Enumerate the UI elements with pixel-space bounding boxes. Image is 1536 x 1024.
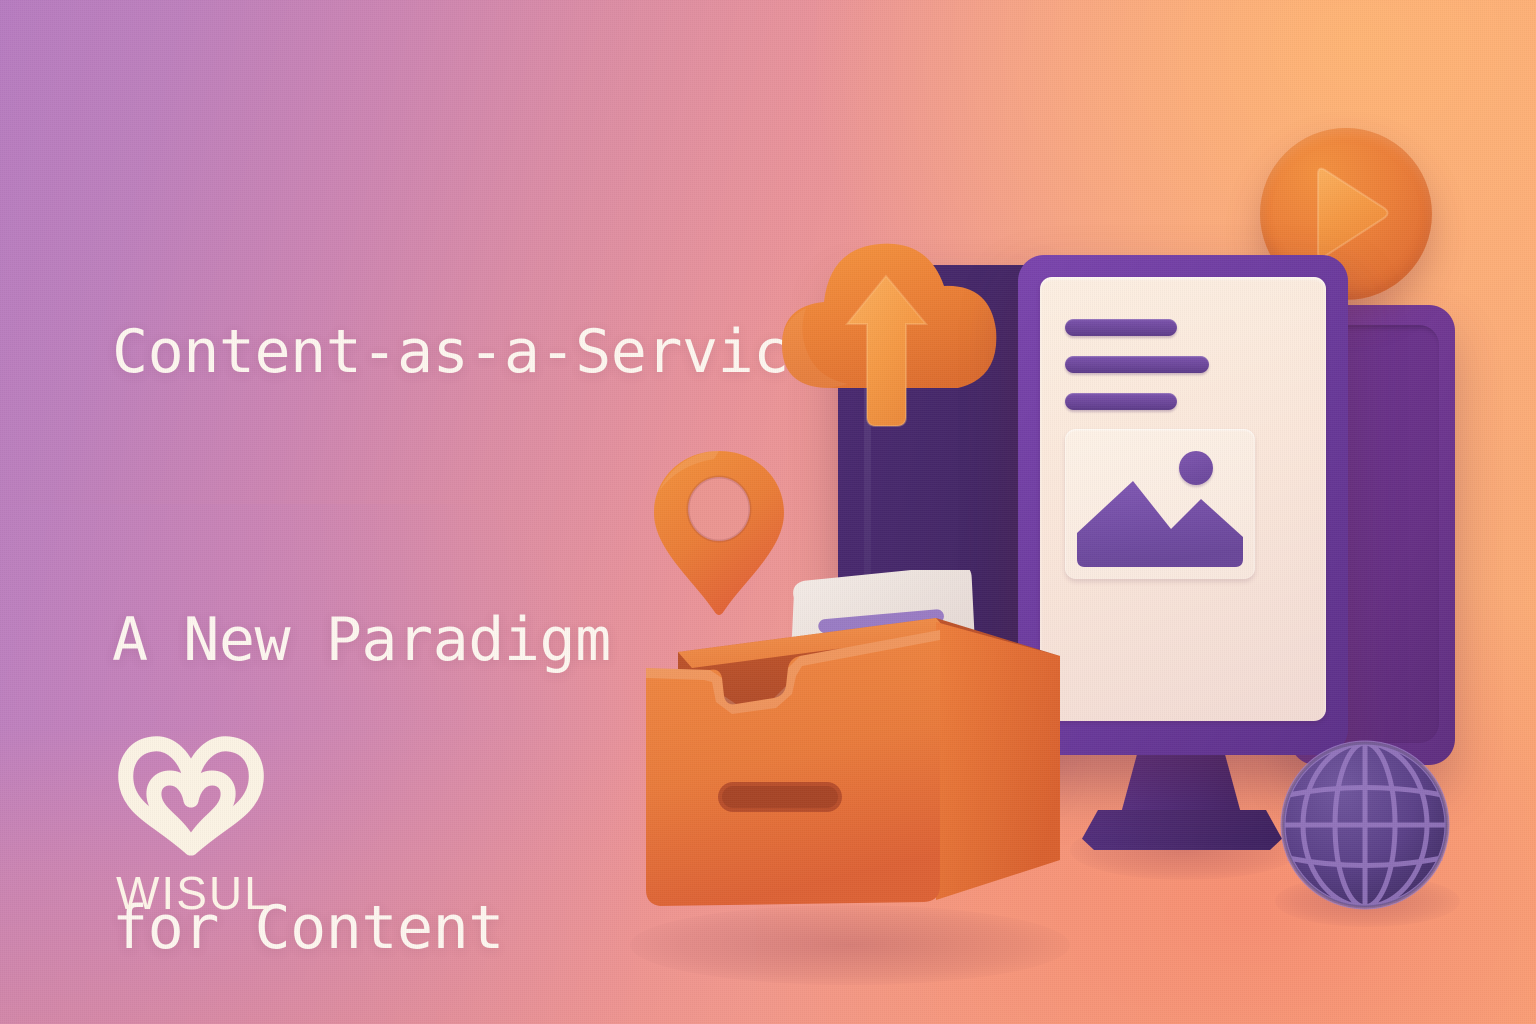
globe-glyph	[1280, 740, 1450, 910]
screen-text-line-2	[1065, 356, 1209, 373]
monitor-neck	[1120, 745, 1242, 817]
brand-lockup: WISUL	[116, 728, 336, 916]
cloud-upload-icon	[768, 212, 1018, 402]
monitor-base	[1082, 810, 1282, 850]
poster-canvas: Content-as-a-Service (CaaS): A New Parad…	[0, 0, 1536, 1024]
screen-text-line-3	[1065, 393, 1177, 410]
storage-crate-glyph	[640, 560, 1070, 950]
wisul-logo-icon	[116, 728, 266, 860]
content-card-screen	[1040, 277, 1326, 721]
hero-illustration	[600, 90, 1500, 970]
globe-icon	[1280, 740, 1450, 910]
cloud-upload-glyph	[768, 212, 1018, 442]
storage-crate	[640, 560, 1070, 950]
image-mountain-icon	[1077, 471, 1243, 567]
screen-image-placeholder	[1065, 429, 1255, 579]
screen-text-line-1	[1065, 319, 1177, 336]
brand-name: WISUL	[116, 870, 336, 916]
